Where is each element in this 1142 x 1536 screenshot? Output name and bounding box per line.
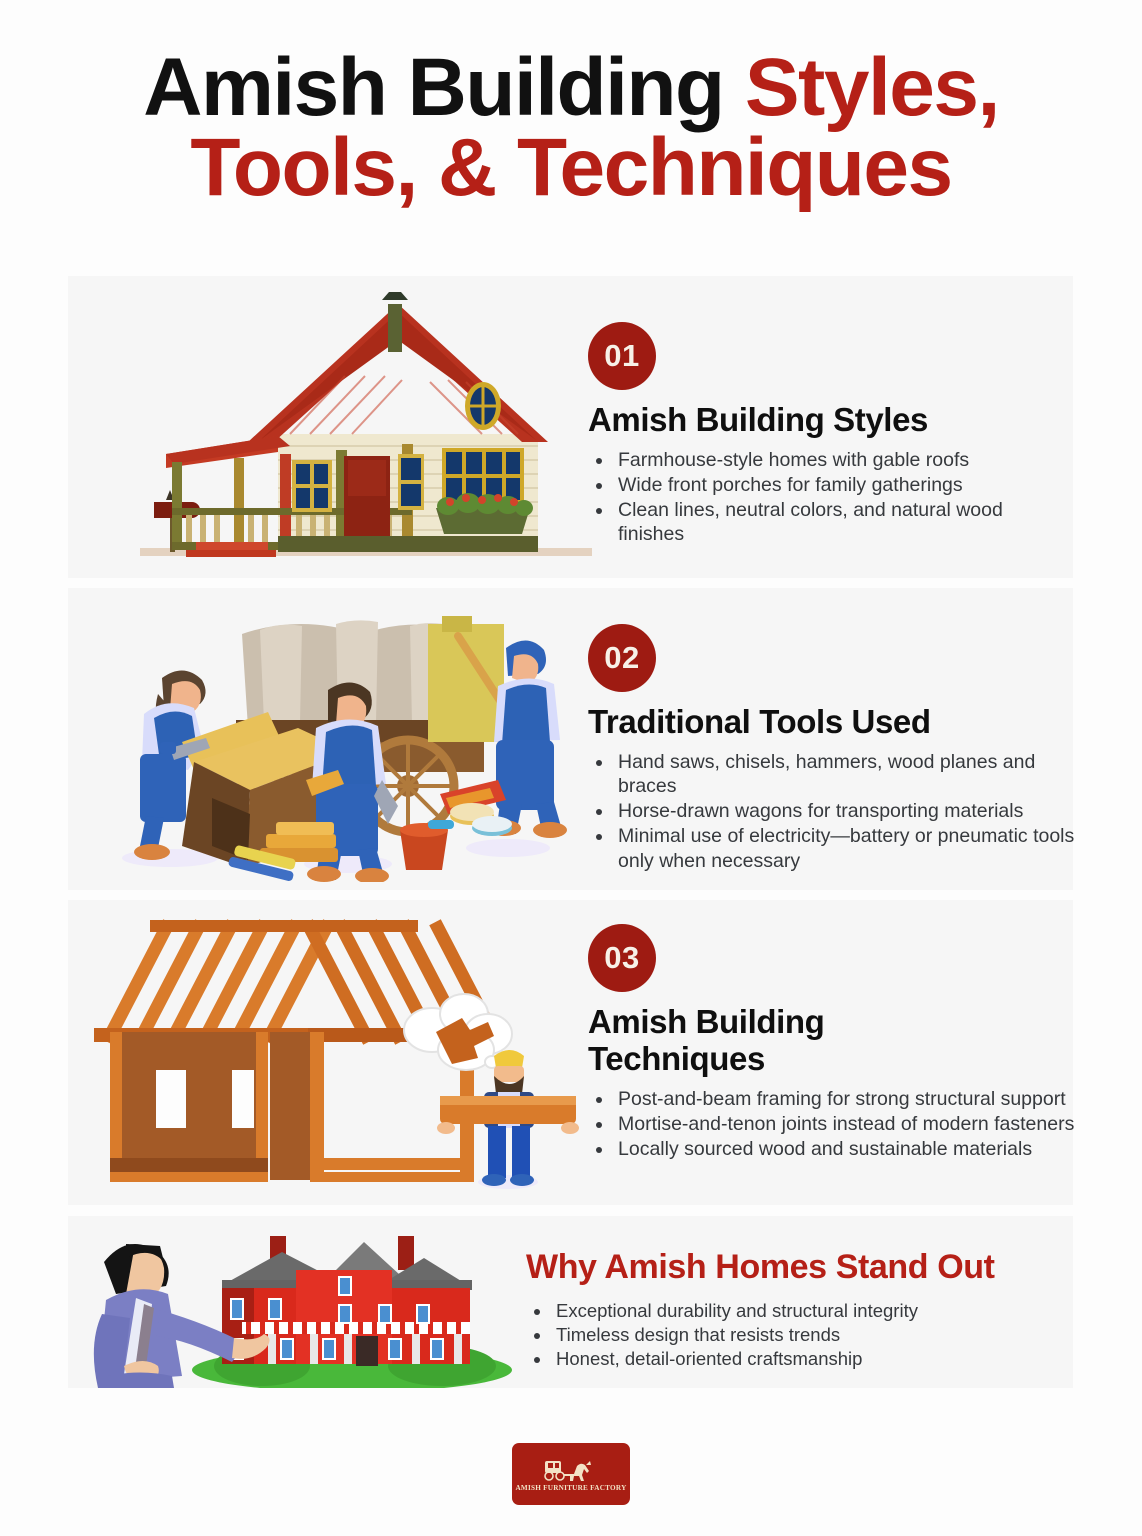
realtor-house-illustration — [82, 1218, 512, 1388]
list-item: Post-and-beam framing for strong structu… — [614, 1087, 1088, 1111]
conclusion-bullet-list: Exceptional durability and structural in… — [552, 1300, 1066, 1371]
conclusion-heading: Why Amish Homes Stand Out — [526, 1248, 1066, 1286]
list-item: Wide front porches for family gatherings — [614, 473, 1058, 497]
section-number-badge-02: 02 — [588, 624, 656, 692]
list-item: Clean lines, neutral colors, and natural… — [614, 498, 1058, 546]
section-2-copy: 02 Traditional Tools Used Hand saws, chi… — [588, 624, 1078, 874]
list-item: Minimal use of electricity—battery or pn… — [614, 824, 1078, 872]
title-part-black: Amish Building — [143, 42, 745, 133]
badge-label: 02 — [604, 640, 639, 676]
conclusion-copy: Why Amish Homes Stand Out Exceptional du… — [526, 1236, 1066, 1372]
section-2-bullet-list: Hand saws, chisels, hammers, wood planes… — [614, 750, 1078, 873]
section-panel-2: 02 Traditional Tools Used Hand saws, chi… — [68, 588, 1073, 890]
title-line-2: Tools, & Techniques — [0, 128, 1142, 208]
title-part-red: Styles, — [745, 42, 999, 133]
list-item: Timeless design that resists trends — [552, 1324, 1066, 1347]
section-1-heading: Amish Building Styles — [588, 402, 1058, 439]
list-item: Locally sourced wood and sustainable mat… — [614, 1137, 1088, 1161]
list-item: Hand saws, chisels, hammers, wood planes… — [614, 750, 1078, 798]
list-item: Horse-drawn wagons for transporting mate… — [614, 799, 1078, 823]
list-item: Honest, detail-oriented craftsmanship — [552, 1348, 1066, 1371]
section-number-badge-03: 03 — [588, 924, 656, 992]
infographic-page: Amish Building Styles, Tools, & Techniqu… — [0, 0, 1142, 1536]
carpenters-wagon-illustration — [110, 602, 590, 882]
list-item: Farmhouse-style homes with gable roofs — [614, 448, 1058, 472]
footer-logo[interactable]: Amish Furniture Factory — [512, 1443, 630, 1505]
horse-and-buggy-icon — [542, 1457, 600, 1483]
section-3-copy: 03 Amish Building Techniques Post-and-be… — [588, 924, 1088, 1162]
section-2-heading: Traditional Tools Used — [588, 704, 1078, 741]
badge-label: 01 — [604, 338, 639, 374]
section-3-bullet-list: Post-and-beam framing for strong structu… — [614, 1087, 1088, 1162]
section-3-heading: Amish Building Techniques — [588, 1004, 888, 1078]
badge-label: 03 — [604, 940, 639, 976]
section-number-badge-01: 01 — [588, 322, 656, 390]
page-title: Amish Building Styles, Tools, & Techniqu… — [0, 48, 1142, 209]
list-item: Mortise-and-tenon joints instead of mode… — [614, 1112, 1088, 1136]
section-panel-3: 03 Amish Building Techniques Post-and-be… — [68, 900, 1073, 1205]
logo-wordmark: Amish Furniture Factory — [515, 1484, 626, 1492]
list-item: Exceptional durability and structural in… — [552, 1300, 1066, 1323]
section-1-copy: 01 Amish Building Styles Farmhouse-style… — [588, 322, 1058, 548]
farmhouse-illustration — [130, 284, 600, 570]
title-line-1: Amish Building Styles, — [0, 48, 1142, 128]
section-1-bullet-list: Farmhouse-style homes with gable roofs W… — [614, 448, 1058, 547]
section-panel-1: 01 Amish Building Styles Farmhouse-style… — [68, 276, 1073, 578]
timber-frame-illustration — [80, 910, 590, 1200]
conclusion-panel: Why Amish Homes Stand Out Exceptional du… — [68, 1216, 1073, 1388]
